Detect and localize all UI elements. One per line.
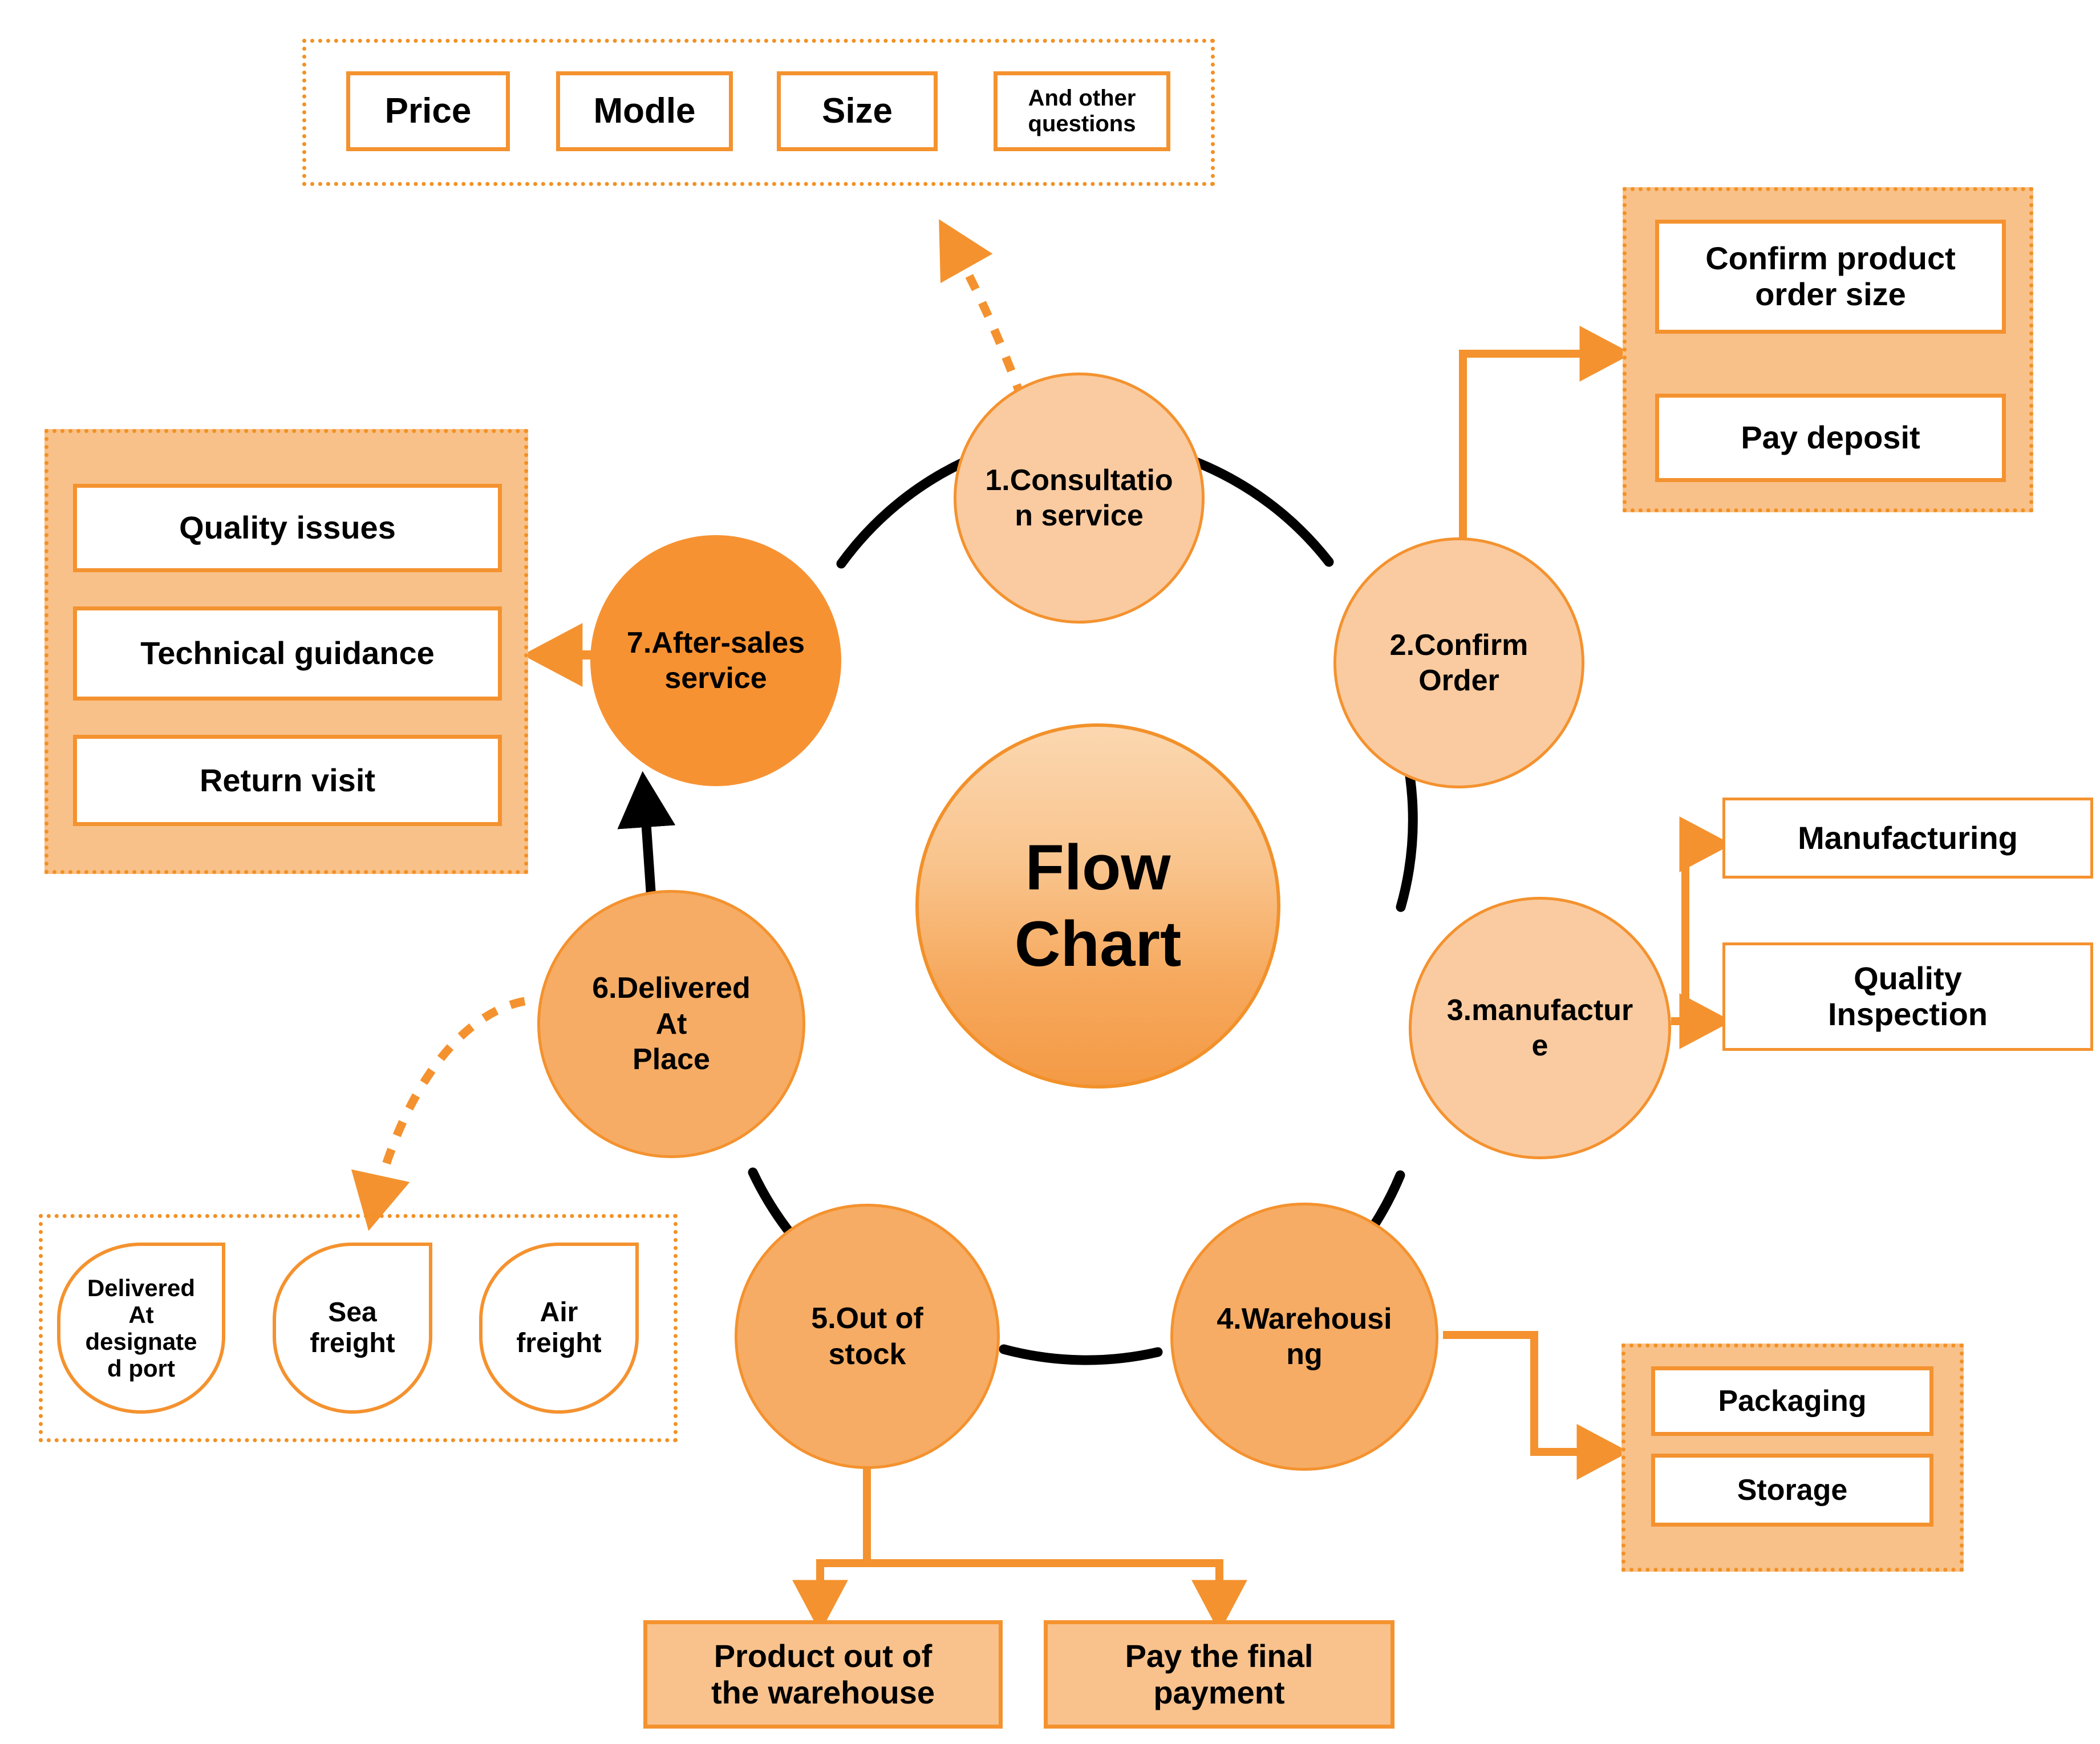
quality-inspection-line2: Inspection (1828, 997, 1988, 1033)
air-freight-line1: Air (540, 1297, 578, 1328)
packaging-box[interactable]: Packaging (1651, 1366, 1933, 1436)
connector-delivery-options (371, 1001, 525, 1221)
flowchart-canvas: Price Modle Size And other questions Con… (0, 0, 2100, 1744)
topic-size-box[interactable]: Size (777, 71, 938, 151)
step-7-label-line1: 7.After-sales (627, 625, 805, 661)
step-1-consultation-service[interactable]: 1.Consultatio n service (954, 373, 1205, 624)
step-4-label-line1: 4.Warehousi (1217, 1301, 1392, 1337)
delivered-port-line2: At (128, 1301, 153, 1328)
delivered-port-line4: d port (107, 1355, 175, 1382)
step-3-label-line1: 3.manufactur (1447, 993, 1633, 1028)
quality-inspection-line1: Quality (1854, 961, 1962, 997)
air-freight-shape[interactable]: Air freight (479, 1243, 639, 1414)
delivered-at-designated-port-shape[interactable]: Delivered At designate d port (57, 1243, 225, 1414)
step-5-label-line1: 5.Out of (811, 1301, 923, 1336)
center-title-line2: Chart (1015, 906, 1181, 982)
manufacturing-box[interactable]: Manufacturing (1722, 798, 2093, 879)
technical-guidance-box[interactable]: Technical guidance (73, 606, 502, 701)
step-1-label-line1: 1.Consultatio (985, 463, 1173, 498)
pay-final-line2: payment (1153, 1674, 1284, 1711)
step-3-label-line2: e (1532, 1028, 1548, 1063)
step-3-manufacture[interactable]: 3.manufactur e (1409, 897, 1671, 1159)
connector-manufacture-trunk (1671, 844, 1722, 1021)
storage-box[interactable]: Storage (1651, 1454, 1933, 1527)
step-6-delivered-at-place[interactable]: 6.Delivered At Place (537, 890, 805, 1158)
sea-freight-line1: Sea (328, 1297, 376, 1328)
topic-other-questions-line1: And other (1028, 86, 1136, 111)
sea-freight-line2: freight (310, 1328, 395, 1359)
sea-freight-shape[interactable]: Sea freight (273, 1243, 432, 1414)
connector-out-of-stock-branch (867, 1563, 1219, 1623)
step-4-warehousing[interactable]: 4.Warehousi ng (1170, 1203, 1438, 1471)
delivered-port-line3: designate (85, 1328, 197, 1355)
product-out-of-warehouse-box[interactable]: Product out of the warehouse (643, 1620, 1003, 1729)
confirm-order-size-line2: order size (1755, 277, 1906, 313)
topic-modle-box[interactable]: Modle (556, 71, 733, 151)
delivered-port-line1: Delivered (87, 1274, 195, 1301)
step-2-label-line1: 2.Confirm (1390, 628, 1529, 663)
step-5-out-of-stock[interactable]: 5.Out of stock (735, 1204, 1000, 1469)
return-visit-box[interactable]: Return visit (73, 735, 502, 826)
step-6-label-line1: 6.Delivered (592, 970, 751, 1006)
topic-other-questions-line2: questions (1028, 111, 1136, 137)
step-2-label-line2: Order (1418, 663, 1499, 698)
confirm-product-order-size-box[interactable]: Confirm product order size (1655, 220, 2006, 334)
pay-deposit-box[interactable]: Pay deposit (1655, 394, 2006, 482)
step-6-label-line3: Place (633, 1042, 710, 1077)
flow-chart-center-circle: Flow Chart (915, 723, 1280, 1089)
topic-other-questions-box[interactable]: And other questions (994, 71, 1170, 151)
connector-warehousing (1443, 1335, 1620, 1452)
product-out-line1: Product out of (714, 1638, 933, 1674)
quality-inspection-box[interactable]: Quality Inspection (1722, 942, 2093, 1051)
step-7-label-line2: service (664, 661, 767, 696)
air-freight-line2: freight (516, 1328, 601, 1359)
step-2-confirm-order[interactable]: 2.Confirm Order (1333, 537, 1584, 788)
pay-final-payment-box[interactable]: Pay the final payment (1044, 1620, 1394, 1729)
pay-final-line1: Pay the final (1125, 1638, 1313, 1674)
step-6-label-line2: At (656, 1006, 687, 1042)
step-4-label-line2: ng (1286, 1337, 1323, 1372)
topic-price-box[interactable]: Price (346, 71, 510, 151)
step-5-label-line2: stock (829, 1337, 906, 1372)
center-title-line1: Flow (1025, 829, 1170, 906)
product-out-line2: the warehouse (711, 1674, 935, 1711)
step-1-label-line2: n service (1015, 498, 1144, 533)
step-7-after-sales-service[interactable]: 7.After-sales service (590, 535, 841, 786)
confirm-order-size-line1: Confirm product (1705, 241, 1956, 277)
quality-issues-box[interactable]: Quality issues (73, 484, 502, 572)
